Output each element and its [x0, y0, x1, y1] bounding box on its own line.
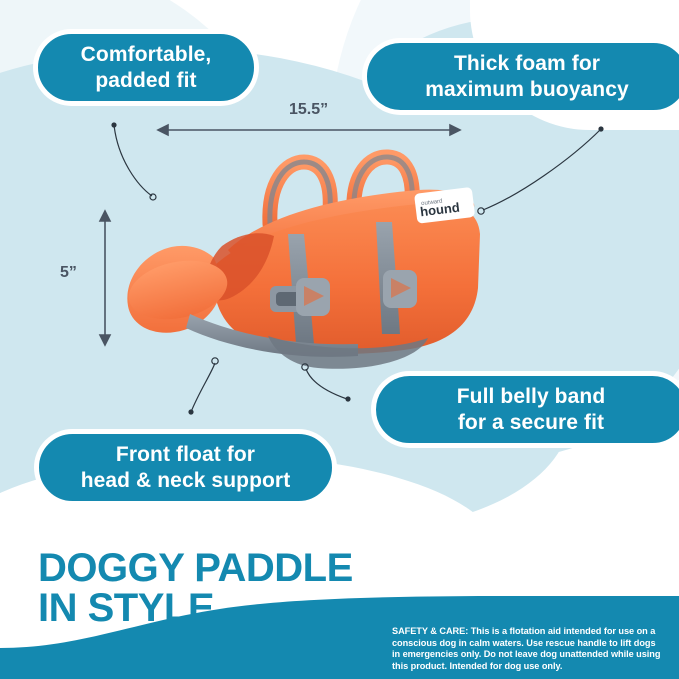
product-life-jacket-image: outward hound — [118, 138, 483, 373]
width-dimension-label: 15.5” — [289, 101, 328, 119]
safety-and-care-text: SAFETY & CARE: This is a flotation aid i… — [392, 626, 664, 672]
callout-thick-foam-buoyancy: Thick foam for maximum buoyancy — [362, 38, 679, 115]
callout-belly-band-line2: for a secure fit — [458, 411, 604, 434]
callout-front-float-support: Front float for head & neck support — [34, 429, 337, 506]
callout-thick-foam-line1: Thick foam for — [454, 52, 600, 75]
callout-front-float-line1: Front float for — [116, 443, 255, 466]
headline-line1: DOGGY PADDLE — [38, 546, 353, 590]
callout-belly-band-line1: Full belly band — [457, 385, 606, 408]
infographic-canvas: outward hound — [0, 0, 679, 679]
callout-full-belly-band: Full belly band for a secure fit — [371, 371, 679, 448]
callout-thick-foam-line2: maximum buoyancy — [425, 78, 629, 101]
callout-comfortable-line2: padded fit — [95, 69, 196, 92]
height-dimension-label: 5” — [60, 264, 77, 282]
callout-front-float-line2: head & neck support — [81, 469, 291, 492]
callout-comfortable-line1: Comfortable, — [81, 43, 212, 66]
callout-comfortable-padded-fit: Comfortable, padded fit — [33, 29, 259, 106]
safety-heading: SAFETY & CARE: — [392, 626, 468, 636]
